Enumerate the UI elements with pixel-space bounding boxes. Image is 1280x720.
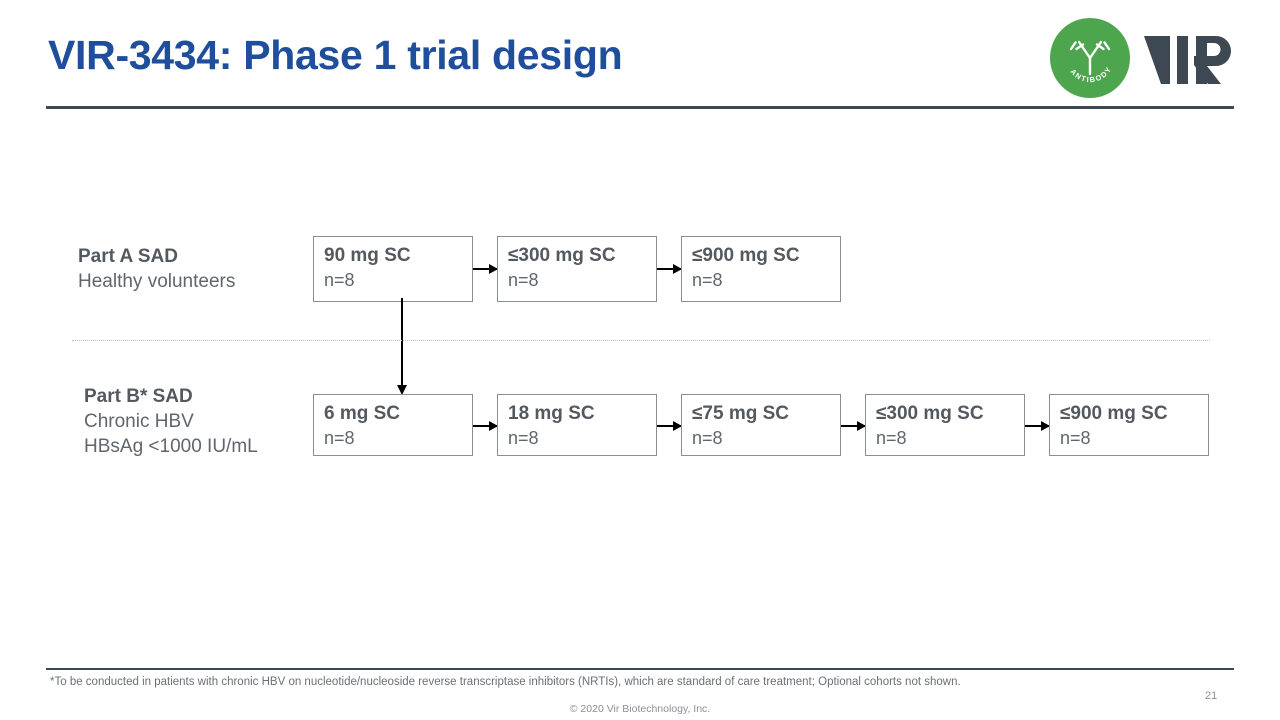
cohort-dose: ≤900 mg SC: [692, 243, 840, 268]
cohort-dose: ≤900 mg SC: [1060, 401, 1208, 426]
cohort-dose: ≤300 mg SC: [876, 401, 1024, 426]
section-divider: [72, 340, 1210, 341]
cohort-box-a1[interactable]: 90 mg SC n=8: [313, 236, 473, 302]
cohort-n: n=8: [692, 426, 840, 451]
cohort-box-b1[interactable]: 6 mg SC n=8: [313, 394, 473, 456]
cohort-n: n=8: [508, 268, 656, 293]
part-b-row-label: Part B* SAD Chronic HBV HBsAg <1000 IU/m…: [84, 384, 258, 459]
arrow-b1-b2: [473, 425, 497, 427]
cohort-box-a3[interactable]: ≤900 mg SC n=8: [681, 236, 841, 302]
part-a-title: Part A SAD: [78, 244, 235, 269]
part-b-population: Chronic HBV: [84, 409, 258, 434]
footnote-text: *To be conducted in patients with chroni…: [50, 676, 961, 688]
cohort-box-b2[interactable]: 18 mg SC n=8: [497, 394, 657, 456]
arrow-a2-a3: [657, 268, 681, 270]
cohort-box-a2[interactable]: ≤300 mg SC n=8: [497, 236, 657, 302]
footer-divider: [46, 668, 1234, 670]
arrow-b4-b5: [1025, 425, 1049, 427]
cohort-n: n=8: [1060, 426, 1208, 451]
part-a-row-label: Part A SAD Healthy volunteers: [78, 244, 235, 294]
cohort-dose: ≤75 mg SC: [692, 401, 840, 426]
cohort-n: n=8: [324, 426, 472, 451]
cohort-box-b4[interactable]: ≤300 mg SC n=8: [865, 394, 1025, 456]
cohort-n: n=8: [876, 426, 1024, 451]
cohort-n: n=8: [692, 268, 840, 293]
cohort-box-b5[interactable]: ≤900 mg SC n=8: [1049, 394, 1209, 456]
cohort-dose: ≤300 mg SC: [508, 243, 656, 268]
cohort-n: n=8: [508, 426, 656, 451]
part-a-population: Healthy volunteers: [78, 269, 235, 294]
page-number: 21: [1205, 690, 1217, 702]
arrow-a1-a2: [473, 268, 497, 270]
arrow-b3-b4: [841, 425, 865, 427]
part-b-title: Part B* SAD: [84, 384, 258, 409]
cohort-dose: 90 mg SC: [324, 243, 472, 268]
cohort-dose: 18 mg SC: [508, 401, 656, 426]
trial-design-diagram: Part A SAD Healthy volunteers 90 mg SC n…: [0, 0, 1280, 720]
cohort-dose: 6 mg SC: [324, 401, 472, 426]
arrow-part-a-to-part-b: [401, 298, 403, 386]
arrow-b2-b3: [657, 425, 681, 427]
cohort-n: n=8: [324, 268, 472, 293]
part-b-criteria: HBsAg <1000 IU/mL: [84, 434, 258, 459]
cohort-box-b3[interactable]: ≤75 mg SC n=8: [681, 394, 841, 456]
copyright-text: © 2020 Vir Biotechnology, Inc.: [0, 703, 1280, 715]
